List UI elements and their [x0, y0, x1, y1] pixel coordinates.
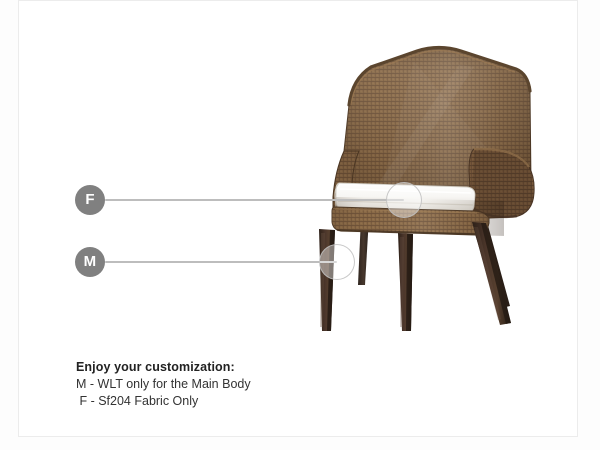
callout-badge-m[interactable]: M	[75, 247, 105, 277]
callout-hotspot-m[interactable]	[319, 244, 355, 280]
customization-heading: Enjoy your customization:	[76, 359, 506, 376]
customization-option-main-body: M - WLT only for the Main Body	[76, 376, 506, 393]
customization-option-fabric: F - Sf204 Fabric Only	[76, 393, 506, 410]
page-background: F M Enjoy your customization: M - WLT on…	[0, 0, 600, 450]
product-customization-card: F M Enjoy your customization: M - WLT on…	[18, 0, 578, 437]
callout-line-f	[105, 199, 404, 201]
product-image-stage: F M	[19, 1, 578, 341]
callout-hotspot-f[interactable]	[386, 182, 422, 218]
callout-line-m	[105, 261, 337, 263]
customization-summary: Enjoy your customization: M - WLT only f…	[76, 359, 506, 409]
chair-rear-right-leg	[472, 222, 511, 325]
chair-illustration	[19, 1, 578, 341]
callout-badge-f[interactable]: F	[75, 185, 105, 215]
